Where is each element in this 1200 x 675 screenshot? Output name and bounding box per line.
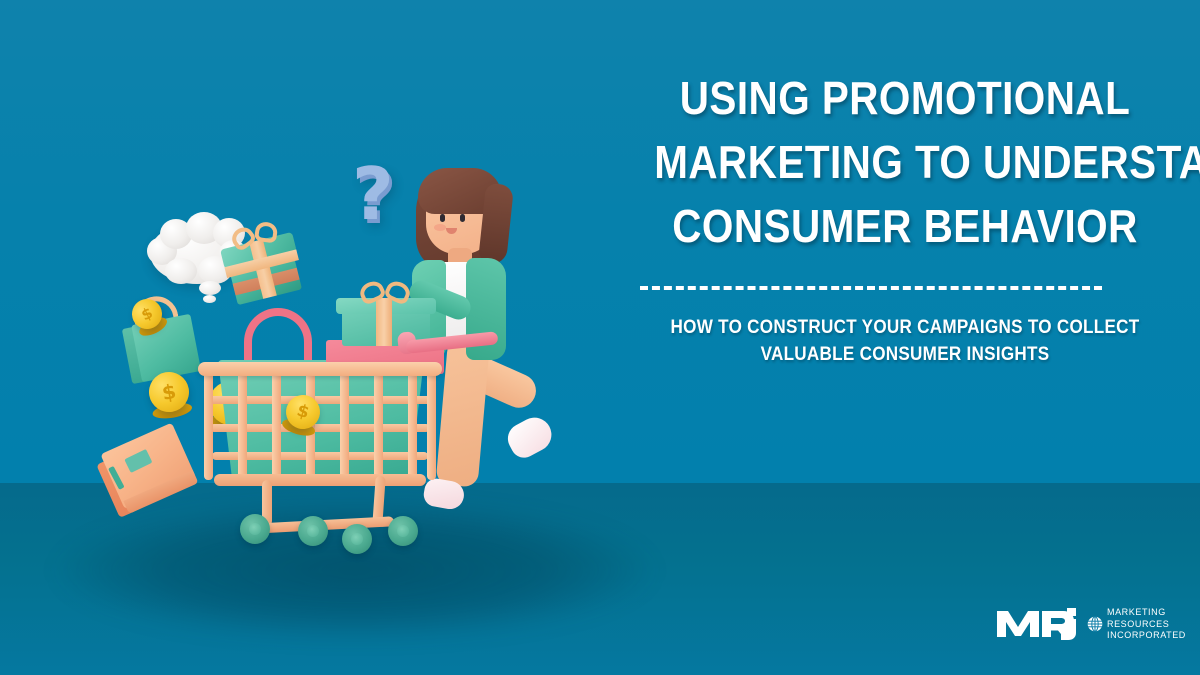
thought-bubble-dot	[199, 281, 221, 295]
cart-wire-vertical	[204, 368, 213, 480]
character-cheek	[434, 224, 446, 231]
cart-wheel	[388, 516, 418, 546]
cart-wire-vertical	[238, 368, 247, 478]
cart-basket-rim	[198, 362, 442, 376]
cart-wheel	[342, 524, 372, 554]
cardboard-parcel	[93, 423, 201, 524]
question-mark-icon: ?	[352, 158, 394, 230]
floating-gift-box	[220, 232, 306, 306]
cart-basket-frame	[198, 362, 442, 486]
brand-tagline: MARKETING RESOURCES INCORPORATED	[1107, 607, 1186, 642]
shopping-cart	[190, 300, 470, 550]
cart-wheel	[298, 516, 328, 546]
globe-icon	[1087, 616, 1103, 632]
cart-basket-bottom	[214, 474, 426, 486]
brand-tagline-line-1: MARKETING	[1107, 607, 1186, 619]
hero-illustration: ? $	[0, 0, 620, 675]
page-title: USING PROMOTIONAL MARKETING TO UNDERSTAN…	[654, 66, 1156, 258]
dashed-divider	[640, 286, 1102, 290]
cart-gift-ribbon	[376, 298, 392, 346]
character-eye	[440, 214, 445, 222]
cart-wire-vertical	[374, 368, 383, 478]
character-eye	[460, 214, 465, 222]
brand-tagline-line-3: INCORPORATED	[1107, 630, 1186, 642]
character-back-shoe	[503, 412, 558, 463]
page-title-line-2: MARKETING TO UNDERSTAND	[654, 130, 1156, 194]
gift-bow-right	[254, 221, 279, 244]
brand-tagline-line-2: RESOURCES	[1107, 619, 1186, 631]
cart-wire-vertical	[408, 368, 417, 480]
cart-wire-vertical	[272, 368, 281, 478]
thought-bubble-lump	[165, 258, 197, 284]
slide-canvas: ? $	[0, 0, 1200, 675]
cart-wire-vertical	[340, 368, 349, 478]
page-subtitle-line-2: VALUABLE CONSUMER INSIGHTS	[649, 341, 1162, 368]
cart-pink-bag-handle	[244, 308, 312, 364]
cart-wheel	[240, 514, 270, 544]
mri-wordmark-icon	[997, 607, 1083, 641]
page-title-line-1: USING PROMOTIONAL	[654, 66, 1156, 130]
text-panel: USING PROMOTIONAL MARKETING TO UNDERSTAN…	[600, 0, 1200, 675]
brand-logo[interactable]: MARKETING RESOURCES INCORPORATED	[997, 607, 1190, 642]
cart-wire-vertical	[427, 368, 436, 480]
page-subtitle-line-1: HOW TO CONSTRUCT YOUR CAMPAIGNS TO COLLE…	[649, 314, 1162, 341]
page-subtitle: HOW TO CONSTRUCT YOUR CAMPAIGNS TO COLLE…	[649, 314, 1162, 368]
coin-icon: $	[146, 369, 192, 415]
page-title-line-3: CONSUMER BEHAVIOR	[654, 194, 1156, 258]
